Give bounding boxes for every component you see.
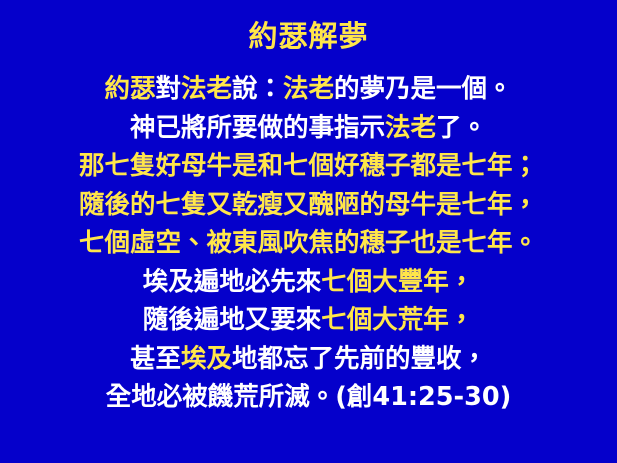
highlighted-text: 法老 [181,74,232,104]
highlighted-text: 七個虛空、被東風吹焦的穗子也是七年。 [79,228,538,258]
highlighted-text: 約瑟 [104,74,155,104]
highlighted-text: 那七隻好母牛是和七個好穗子都是七年； [79,151,538,181]
verse-line: 埃及遍地必先來七個大豐年， [0,263,617,302]
plain-text: 甚至 [130,344,181,374]
plain-text: 地都忘了先前的豐收， [232,344,487,374]
highlighted-text: 七個大豐年， [321,267,474,297]
highlighted-text: 隨後的七隻又乾瘦又醜陋的母牛是七年， [79,190,538,220]
plain-text: 對 [155,74,181,104]
plain-text: 神已將所要做的事指示 [130,113,385,143]
scripture-body: 約瑟對法老說：法老的夢乃是一個。神已將所要做的事指示法老了。那七隻好母牛是和七個… [0,70,617,417]
highlighted-text: 七個大荒年， [321,305,474,335]
verse-line: 甚至埃及地都忘了先前的豐收， [0,340,617,379]
plain-text: 全地必被饑荒所滅。(創41:25-30) [106,382,512,412]
verse-line: 神已將所要做的事指示法老了。 [0,109,617,148]
verse-line: 約瑟對法老說：法老的夢乃是一個。 [0,70,617,109]
slide-title: 約瑟解夢 [0,17,617,55]
verse-line: 隨後遍地又要來七個大荒年， [0,301,617,340]
plain-text: 說： [232,74,283,104]
verse-line: 那七隻好母牛是和七個好穗子都是七年； [0,147,617,186]
plain-text: 隨後遍地又要來 [143,305,322,335]
plain-text: 埃及遍地必先來 [143,267,322,297]
plain-text: 了。 [436,113,487,143]
presentation-slide: 約瑟解夢 約瑟對法老說：法老的夢乃是一個。神已將所要做的事指示法老了。那七隻好母… [0,0,617,463]
highlighted-text: 埃及 [181,344,232,374]
highlighted-text: 法老 [283,74,334,104]
plain-text: 的夢乃是一個。 [334,74,513,104]
highlighted-text: 法老 [385,113,436,143]
verse-line: 七個虛空、被東風吹焦的穗子也是七年。 [0,224,617,263]
verse-line: 隨後的七隻又乾瘦又醜陋的母牛是七年， [0,186,617,225]
verse-line: 全地必被饑荒所滅。(創41:25-30) [0,378,617,417]
